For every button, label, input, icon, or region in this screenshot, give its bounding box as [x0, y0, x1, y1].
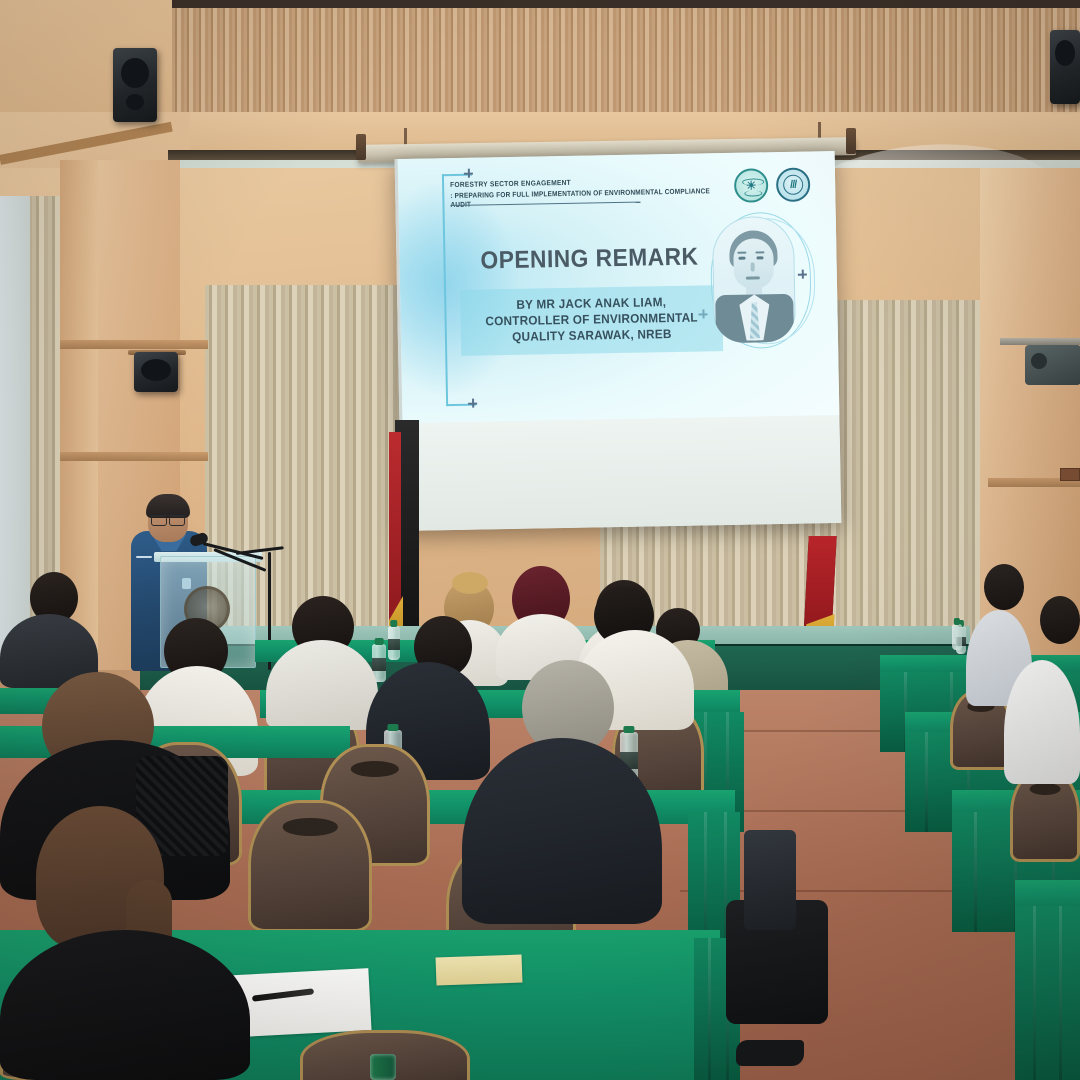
- water-bottle-cap: [370, 1054, 396, 1080]
- screen-bracket-right: [846, 128, 856, 154]
- attendee-head: [984, 564, 1024, 610]
- column-trim: [60, 452, 208, 461]
- ceiling-projector: [1025, 345, 1080, 385]
- ceiling-slat-panel: [172, 0, 1080, 118]
- screen-bracket-left: [356, 134, 366, 160]
- water-bottle: [388, 626, 400, 660]
- wall-plate: [1060, 468, 1080, 481]
- slide-subtitle-box: BY MR JACK ANAK LIAM, CONTROLLER OF ENVI…: [460, 285, 723, 356]
- water-bottle: [952, 624, 962, 650]
- speaker-glasses: [150, 515, 186, 523]
- conference-hall-photo: FORESTRY SECTOR ENGAGEMENT : PREPARING F…: [0, 0, 1080, 1080]
- slide-subtitle-line-3: QUALITY SARAWAK, NREB: [474, 325, 709, 345]
- chair: [248, 800, 372, 932]
- attendee-head: [1040, 596, 1080, 644]
- table-drape: [1015, 906, 1080, 1080]
- wall-speaker-column-left: [134, 352, 178, 392]
- nreb-logo-icon: ☀: [734, 168, 769, 203]
- ceiling-beam: [172, 0, 1080, 8]
- slide-footer-line2: [454, 381, 654, 385]
- presentation-slide: FORESTRY SECTOR ENGAGEMENT : PREPARING F…: [398, 151, 842, 423]
- curtain-right: [840, 300, 988, 670]
- sarawak-flag: [806, 536, 834, 640]
- shoe: [736, 1040, 804, 1066]
- projector-mount: [1000, 338, 1080, 345]
- yellow-notepad: [436, 955, 523, 986]
- portrait-frame: [712, 216, 796, 343]
- trouser-leg: [744, 830, 796, 930]
- speaker-portrait: [704, 210, 811, 352]
- sarawak-logo-icon: ///: [776, 167, 811, 202]
- slide-tick-mark: [472, 399, 474, 408]
- column-trim: [60, 340, 208, 349]
- window-glass-left: [0, 196, 30, 676]
- projection-screen: FORESTRY SECTOR ENGAGEMENT : PREPARING F…: [395, 151, 842, 531]
- wall-speaker-right-top: [1050, 30, 1080, 104]
- slide-tick-mark: [468, 169, 470, 178]
- wall-speaker-left: [113, 48, 157, 122]
- hair-bun: [452, 572, 488, 594]
- slide-title: OPENING REMARK: [461, 243, 718, 276]
- screen-blank-area: [402, 415, 841, 531]
